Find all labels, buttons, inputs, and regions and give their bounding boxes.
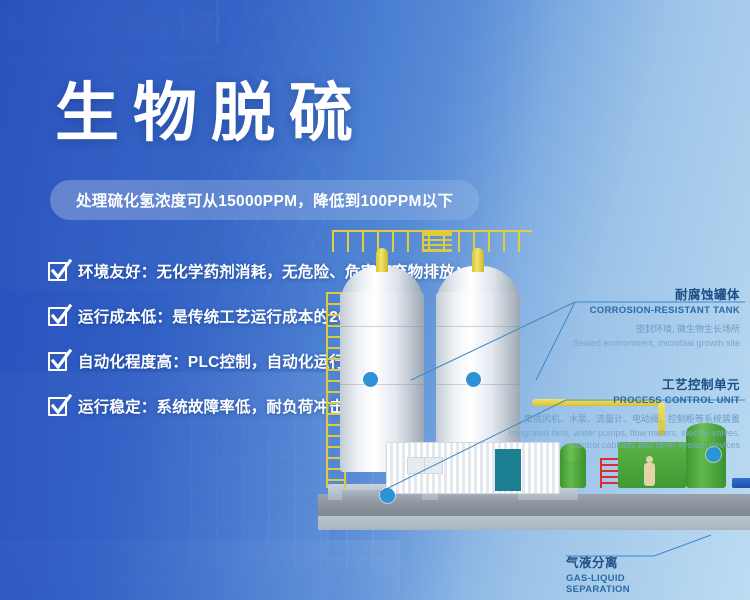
subtitle-pill: 处理硫化氢浓度可从15000PPM，降低到100PPM以下 (50, 180, 479, 220)
background-lattice-tower (205, 0, 325, 300)
tank-left-marker[interactable] (363, 372, 378, 387)
annotation-desc-zh: 密封环境, 微生物生长场所 (510, 323, 740, 336)
checkbox-checked-icon (48, 397, 67, 416)
control-cabin-marker[interactable] (380, 488, 395, 503)
annotation-title-en: GAS-LIQUID SEPARATION (566, 573, 686, 595)
annotation-desc-zh: 集成风机、水泵、流量计、电动阀、控制柜等系统装置 (500, 413, 740, 426)
annotation-title-en: CORROSION-RESISTANT TANK (510, 305, 740, 316)
worker-figure (644, 456, 655, 486)
tank-right-marker[interactable] (466, 372, 481, 387)
pump-unit (732, 478, 750, 488)
annotation-desc-en: Sealed environment, microbial growth sit… (510, 337, 740, 349)
annotation-desc-en: Integrated fans, water pumps, flow meter… (500, 427, 740, 451)
page-title: 生物脱硫 (55, 78, 367, 148)
small-green-tank (560, 452, 586, 488)
checkbox-checked-icon (48, 262, 67, 281)
annotation-title-en: PROCESS CONTROL UNIT (500, 395, 740, 406)
cabin-door (495, 449, 521, 491)
annotation-process-control-unit: 工艺控制单元 PROCESS CONTROL UNIT 集成风机、水泵、流量计、… (500, 374, 740, 451)
annotation-title-zh: 气液分离 (566, 552, 686, 571)
annotation-corrosion-resistant-tank: 耐腐蚀罐体 CORROSION-RESISTANT TANK 密封环境, 微生物… (510, 284, 740, 349)
tank-left-railing (332, 230, 436, 252)
checkbox-checked-icon (48, 352, 67, 371)
background-tank-railing (10, 0, 219, 44)
annotation-title-zh: 工艺控制单元 (500, 374, 740, 393)
walkway-bridge (422, 232, 452, 252)
annotation-gas-liquid-separation: 气液分离 GAS-LIQUID SEPARATION (566, 552, 686, 595)
cabin-louver (407, 457, 443, 474)
annotation-title-zh: 耐腐蚀罐体 (510, 284, 740, 303)
poster-canvas: 生物脱硫 处理硫化氢浓度可从15000PPM，降低到100PPM以下 环境友好：… (0, 0, 750, 600)
checkbox-checked-icon (48, 307, 67, 326)
